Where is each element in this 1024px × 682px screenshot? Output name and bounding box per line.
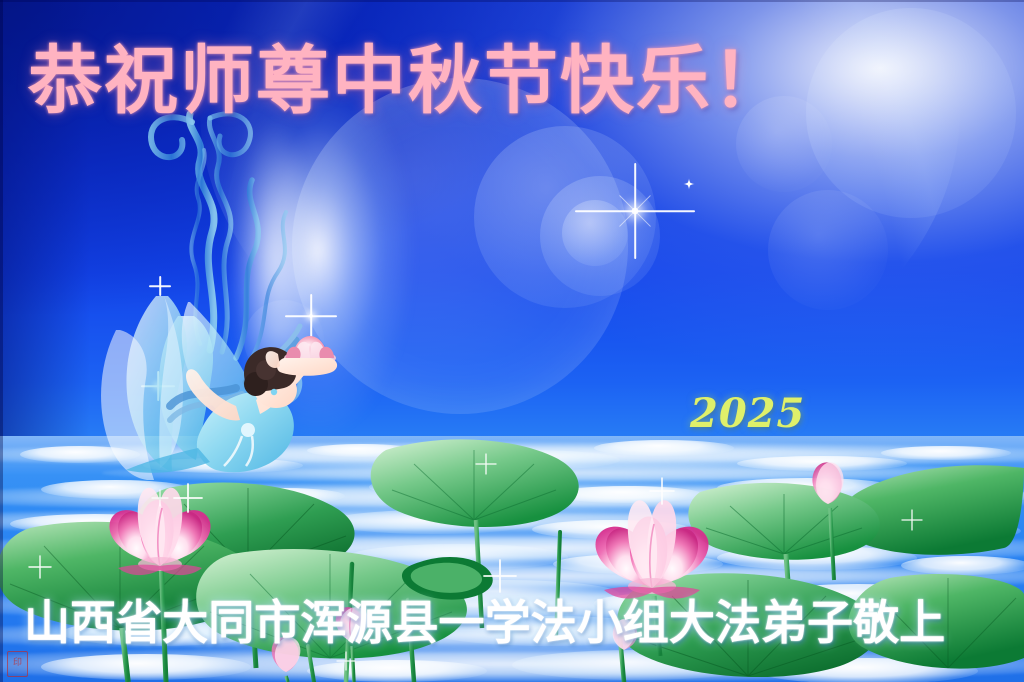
bubble-orb-small-b [768, 190, 888, 310]
celestial-fairy-illustration [60, 100, 380, 480]
page-title: 恭祝师尊中秋节快乐！ [28, 40, 988, 122]
bubble-orb-core [562, 200, 628, 266]
red-seal-icon: 印 [7, 651, 28, 677]
signature-text: 山西省大同市浑源县一学法小组大法弟子敬上 [24, 598, 1004, 650]
celestial-fairy [60, 100, 380, 480]
left-edge-shade [0, 0, 3, 682]
year-label: 2025 [690, 390, 805, 437]
greeting-card: 恭祝师尊中秋节快乐！ 2025 山西省大同市浑源县一学法小组大法弟子敬上 印 [0, 0, 1024, 682]
top-edge-shade [0, 0, 1024, 2]
